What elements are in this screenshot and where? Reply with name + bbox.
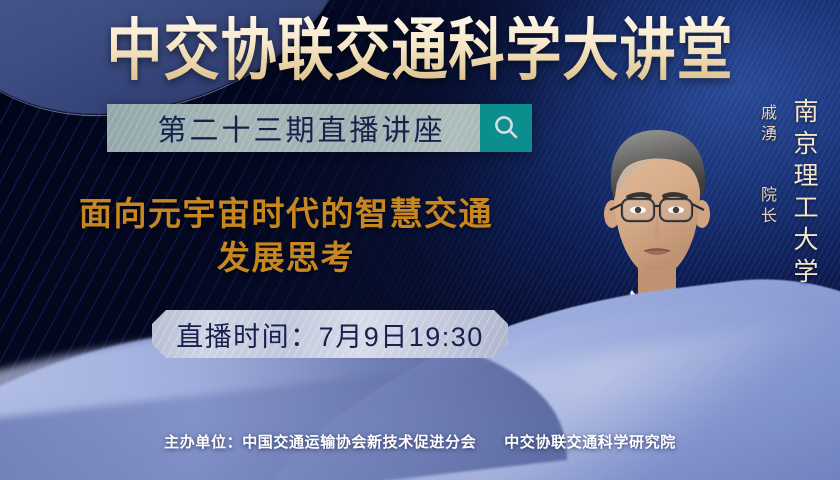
broadcast-time-label: 直播时间：7月9日19:30: [176, 315, 484, 354]
headline-line-2: 发展思考: [28, 236, 544, 280]
footer-prefix: 主办单位：: [164, 434, 242, 451]
footer-org-1: 中国交通运输协会新技术促进分会: [242, 434, 476, 451]
speaker-role: 院长: [754, 186, 778, 228]
speaker-affiliation: 南京理工大学: [786, 98, 822, 290]
search-icon[interactable]: [480, 104, 532, 152]
lecture-headline: 面向元宇宙时代的智慧交通 发展思考: [28, 192, 544, 280]
organizer-footer: 主办单位：中国交通运输协会新技术促进分会中交协联交通科学研究院: [0, 431, 840, 452]
broadcast-time-plate: 直播时间：7月9日19:30: [152, 310, 508, 358]
poster-title: 中交协联交通科学大讲堂: [0, 16, 840, 84]
speaker-name: 戚湧: [754, 104, 778, 146]
episode-bar[interactable]: 第二十三期直播讲座: [107, 104, 532, 152]
footer-org-2: 中交协联交通科学研究院: [504, 434, 676, 451]
episode-label: 第二十三期直播讲座: [107, 104, 480, 152]
headline-line-1: 面向元宇宙时代的智慧交通: [28, 192, 544, 236]
live-stream-poster: 中交协联交通科学大讲堂 第二十三期直播讲座 面向元宇宙时代的智慧交通 发展思考 …: [0, 0, 840, 480]
